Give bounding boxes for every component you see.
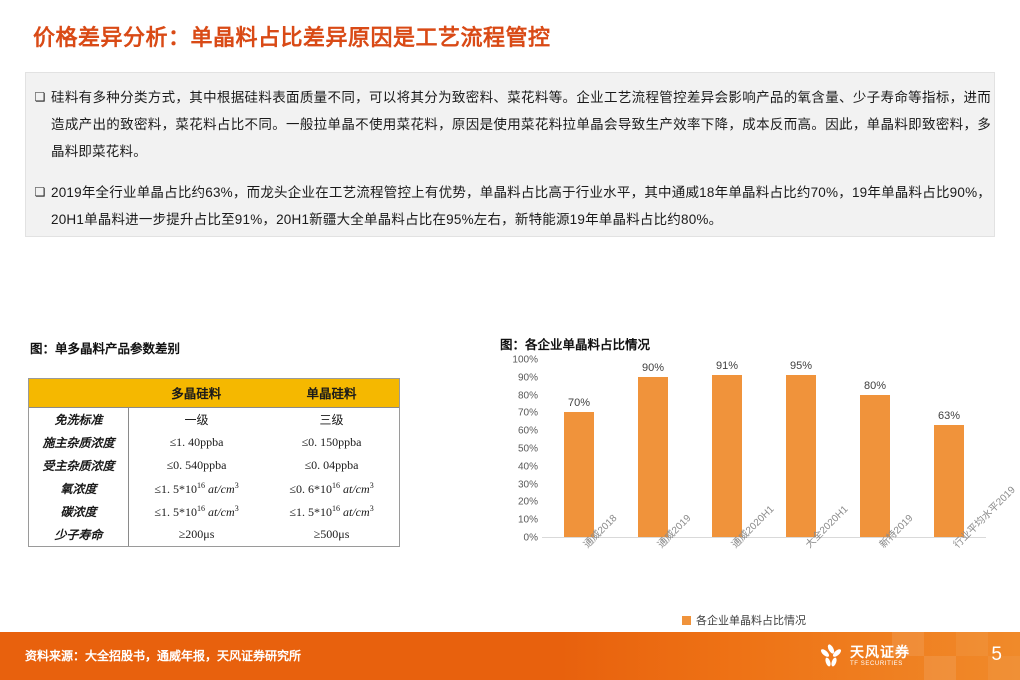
row-label: 施主杂质浓度 [29,431,129,454]
bullet-list: ❏ 硅料有多种分类方式，其中根据硅料表面质量不同，可以将其分为致密料、菜花料等。… [33,84,991,247]
page-number: 5 [991,644,1002,666]
page-title: 价格差异分析：单晶料占比差异原因是工艺流程管控 [33,20,551,52]
bar-value-label: 63% [938,410,960,422]
cell-poly: ≤1. 5*1016 at/cm3 [129,477,265,500]
bar[interactable] [712,375,742,537]
bar[interactable] [934,425,964,537]
cell-mono: ≤0. 150ppba [264,431,399,454]
bullet-paragraph-2: 2019年全行业单晶占比约63%，而龙头企业在工艺流程管控上有优势，单晶料占比高… [51,179,991,233]
bar-slot: 63% [912,360,986,537]
y-axis-tick: 20% [498,497,538,508]
y-axis-tick: 50% [498,444,538,455]
y-axis-tick: 90% [498,372,538,383]
cell-poly: ≥200μs [129,523,265,546]
y-axis-tick: 100% [498,355,538,366]
cell-mono: ≤0. 04ppba [264,454,399,477]
logo-text-en: TF SECURITIES [850,661,910,667]
table-header-blank [29,379,129,408]
footer-block [956,632,988,656]
y-axis-tick: 30% [498,479,538,490]
footer-bar: 资料来源：大全招股书，通威年报，天风证券研究所 天风证券 TF SECURITI… [0,632,1020,680]
y-axis-tick: 80% [498,390,538,401]
y-axis-tick: 70% [498,408,538,419]
cell-poly: 一级 [129,408,265,432]
footer-block [924,656,956,680]
y-axis-tick: 0% [498,533,538,544]
chart-x-axis: 通威2018通威2019通威2020H1大全2020H1新特2019行业平均水平… [542,540,986,610]
chart-baseline [542,537,986,538]
bar-slot: 90% [616,360,690,537]
cell-poly: ≤1. 40ppba [129,431,265,454]
legend-swatch-icon [682,616,691,625]
bar-value-label: 91% [716,360,738,372]
y-axis-tick: 60% [498,426,538,437]
bar-value-label: 90% [642,362,664,374]
bar[interactable] [786,375,816,537]
row-label: 少子寿命 [29,523,129,546]
bar-value-label: 95% [790,360,812,372]
bullet-paragraph-1: 硅料有多种分类方式，其中根据硅料表面质量不同，可以将其分为致密料、菜花料等。企业… [51,84,991,165]
cell-mono: 三级 [264,408,399,432]
table-header-poly: 多晶硅料 [129,379,265,408]
row-label: 受主杂质浓度 [29,454,129,477]
bar-slot: 70% [542,360,616,537]
table-row: 少子寿命 ≥200μs ≥500μs [29,523,399,546]
cell-mono: ≤0. 6*1016 at/cm3 [264,477,399,500]
bar-chart: 100%90%80%70%60%50%40%30%20%10%0% 70%90%… [498,360,990,625]
cell-poly: ≤0. 540ppba [129,454,265,477]
bar[interactable] [860,395,890,537]
tf-petal-icon [818,643,844,669]
table-row: 受主杂质浓度 ≤0. 540ppba ≤0. 04ppba [29,454,399,477]
chart-y-axis: 100%90%80%70%60%50%40%30%20%10%0% [498,360,538,538]
table-header-row: 多晶硅料 单晶硅料 [29,379,399,408]
bar-slot: 91% [690,360,764,537]
table-row: 施主杂质浓度 ≤1. 40ppba ≤0. 150ppba [29,431,399,454]
list-item: ❏ 硅料有多种分类方式，其中根据硅料表面质量不同，可以将其分为致密料、菜花料等。… [33,84,991,165]
bullet-square-icon: ❏ [33,84,47,111]
chart-legend: 各企业单晶料占比情况 [498,612,990,628]
source-note: 资料来源：大全招股书，通威年报，天风证券研究所 [25,647,301,664]
bar-value-label: 70% [568,397,590,409]
y-axis-tick: 10% [498,515,538,526]
row-label: 免洗标准 [29,408,129,432]
right-figure-caption: 图：各企业单晶料占比情况 [500,334,650,353]
table-row: 碳浓度 ≤1. 5*1016 at/cm3 ≤1. 5*1016 at/cm3 [29,500,399,523]
parameter-table: 多晶硅料 单晶硅料 免洗标准 一级 三级 施主杂质浓度 ≤1. 40ppba ≤… [28,378,400,547]
row-label: 碳浓度 [29,500,129,523]
cell-poly: ≤1. 5*1016 at/cm3 [129,500,265,523]
legend-label: 各企业单晶料占比情况 [696,612,806,628]
y-axis-tick: 40% [498,461,538,472]
logo-text-cn: 天风证券 [850,645,910,659]
table-header-mono: 单晶硅料 [264,379,399,408]
row-label: 氧浓度 [29,477,129,500]
company-logo: 天风证券 TF SECURITIES [818,640,910,672]
cell-mono: ≤1. 5*1016 at/cm3 [264,500,399,523]
bar-value-label: 80% [864,380,886,392]
bar[interactable] [638,377,668,537]
table-row: 免洗标准 一级 三级 [29,408,399,432]
cell-mono: ≥500μs [264,523,399,546]
table-row: 氧浓度 ≤1. 5*1016 at/cm3 ≤0. 6*1016 at/cm3 [29,477,399,500]
bar[interactable] [564,412,594,537]
bullet-square-icon: ❏ [33,179,47,206]
list-item: ❏ 2019年全行业单晶占比约63%，而龙头企业在工艺流程管控上有优势，单晶料占… [33,179,991,233]
left-figure-caption: 图：单多晶料产品参数差别 [30,338,180,357]
